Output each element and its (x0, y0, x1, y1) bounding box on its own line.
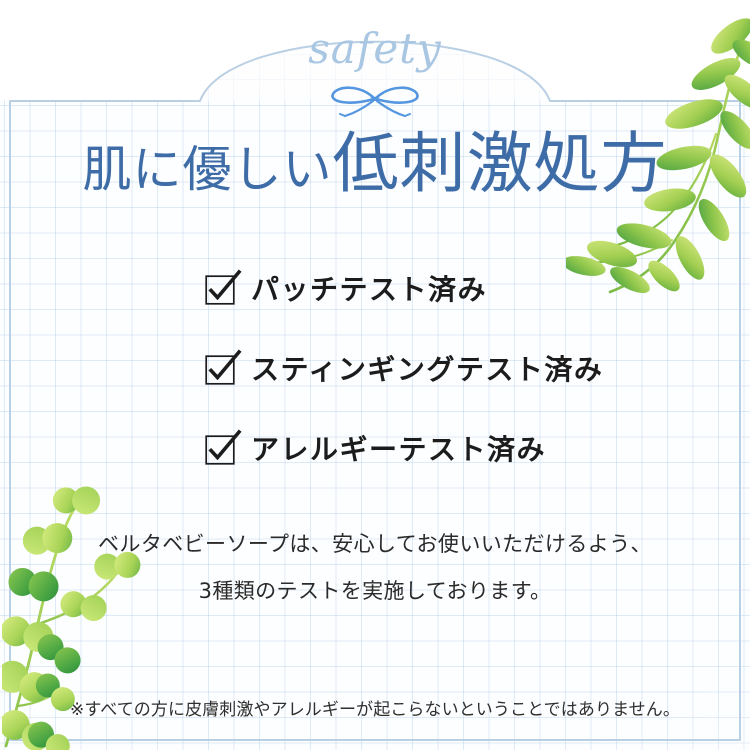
headline-small-part: 肌に優しい (82, 141, 332, 198)
headline-large-part: 低刺激処方 (333, 125, 668, 202)
body-paragraph: ベルタベビーソープは、安心してお使いいただけるよう、 3種類のテストを実施してお… (0, 534, 750, 602)
list-item-label: アレルギーテスト済み (251, 436, 546, 464)
list-item: スティンギングテスト済み (205, 342, 685, 398)
safety-script-title: safety (0, 28, 750, 70)
list-item: アレルギーテスト済み (205, 422, 685, 478)
list-item-label: パッチテスト済み (251, 276, 487, 304)
list-item: パッチテスト済み (205, 262, 685, 318)
test-checklist: パッチテスト済み スティンギングテスト済み アレルギーテスト済み (205, 262, 685, 502)
page-title: 肌に優しい低刺激処方 (0, 131, 750, 197)
list-item-label: スティンギングテスト済み (251, 356, 603, 384)
body-line-2: 3種類のテストを実施しております。 (0, 581, 750, 602)
checked-checkbox-icon (205, 275, 235, 305)
ribbon-bow-icon (0, 78, 750, 122)
safety-infographic-page: safety 肌に優しい低刺激処方 (0, 0, 750, 750)
body-line-1: ベルタベビーソープは、安心してお使いいただけるよう、 (0, 534, 750, 555)
checked-checkbox-icon (205, 435, 235, 465)
disclaimer-footnote: ※すべての方に皮膚刺激やアレルギーが起こらないということではありません。 (0, 702, 750, 719)
checked-checkbox-icon (205, 355, 235, 385)
